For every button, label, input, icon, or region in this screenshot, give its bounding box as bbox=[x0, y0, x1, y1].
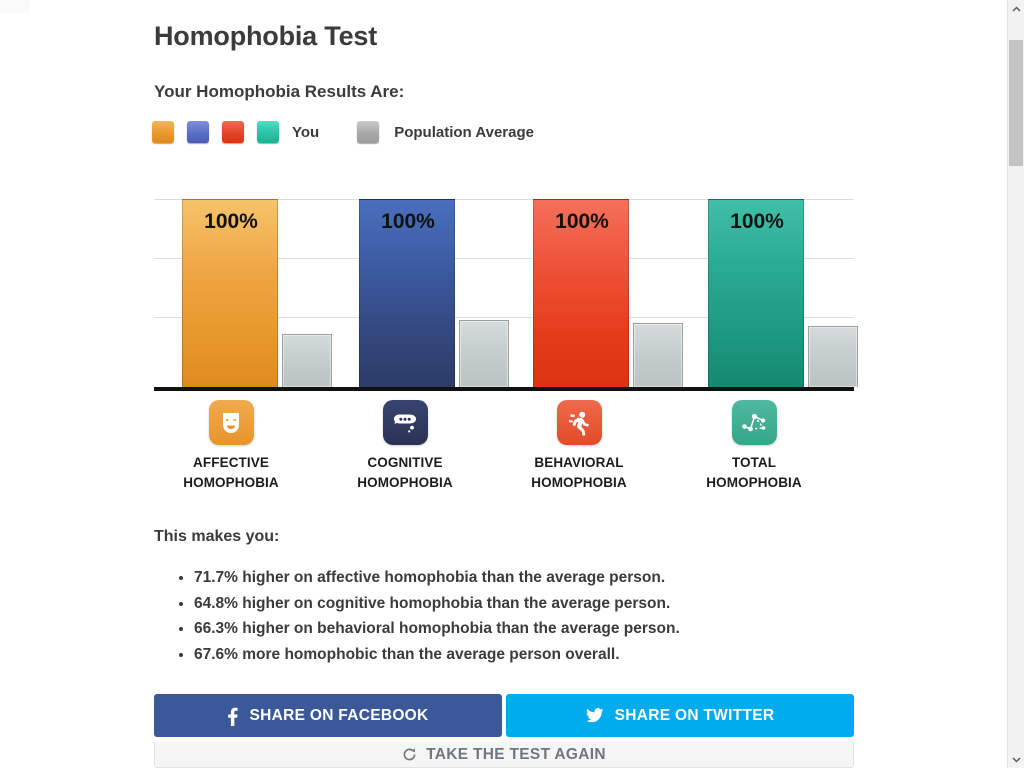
bar-you-affective: 100% bbox=[182, 199, 278, 387]
running-person-icon bbox=[557, 400, 602, 445]
content-column: Homophobia Test Your Homophobia Results … bbox=[154, 0, 854, 102]
scroll-up-arrow-icon[interactable] bbox=[1008, 0, 1024, 17]
makes-you-heading: This makes you: bbox=[154, 528, 279, 546]
share-on-twitter-button[interactable]: SHARE ON TWITTER bbox=[506, 694, 854, 737]
legend-swatch-affective bbox=[152, 121, 174, 143]
bar-average-cognitive bbox=[459, 320, 509, 387]
category-label-total: TOTAL HOMOPHOBIA bbox=[679, 453, 829, 493]
results-bullet-list: 71.7% higher on affective homophobia tha… bbox=[172, 565, 874, 667]
corner-artifact bbox=[0, 0, 30, 13]
legend-swatch-behavioral bbox=[222, 121, 244, 143]
share-on-facebook-button[interactable]: SHARE ON FACEBOOK bbox=[154, 694, 502, 737]
category-label-line2: HOMOPHOBIA bbox=[330, 473, 480, 493]
list-item: 66.3% higher on behavioral homophobia th… bbox=[194, 616, 874, 642]
category-affective: AFFECTIVE HOMOPHOBIA bbox=[156, 400, 306, 493]
bar-value-total: 100% bbox=[709, 210, 805, 234]
page-title: Homophobia Test bbox=[154, 21, 854, 52]
list-item: 71.7% higher on affective homophobia tha… bbox=[194, 565, 874, 591]
twitter-icon bbox=[586, 708, 604, 724]
share-button-row: SHARE ON FACEBOOK SHARE ON TWITTER bbox=[154, 694, 854, 737]
category-total: TOTAL HOMOPHOBIA bbox=[679, 400, 829, 493]
theater-mask-icon bbox=[209, 400, 254, 445]
list-item: 64.8% higher on cognitive homophobia tha… bbox=[194, 591, 874, 617]
category-label-line2: HOMOPHOBIA bbox=[679, 473, 829, 493]
category-behavioral: BEHAVIORAL HOMOPHOBIA bbox=[504, 400, 654, 493]
facebook-icon bbox=[227, 706, 238, 726]
bar-value-behavioral: 100% bbox=[534, 210, 630, 234]
scrollbar-thumb[interactable] bbox=[1009, 40, 1023, 166]
category-label-cognitive: COGNITIVE HOMOPHOBIA bbox=[330, 453, 480, 493]
bar-you-cognitive: 100% bbox=[359, 199, 455, 387]
bar-average-total bbox=[808, 326, 858, 387]
legend-label-population-average: Population Average bbox=[394, 124, 534, 141]
refresh-icon bbox=[402, 747, 417, 762]
category-label-line1: AFFECTIVE bbox=[156, 453, 306, 473]
list-item: 67.6% more homophobic than the average p… bbox=[194, 642, 874, 668]
network-graph-icon bbox=[732, 400, 777, 445]
legend-swatch-population-average bbox=[357, 121, 379, 143]
vertical-scrollbar[interactable] bbox=[1007, 0, 1024, 768]
category-label-line1: BEHAVIORAL bbox=[504, 453, 654, 473]
share-on-twitter-label: SHARE ON TWITTER bbox=[615, 707, 775, 725]
legend-label-you: You bbox=[292, 124, 319, 141]
category-cognitive: COGNITIVE HOMOPHOBIA bbox=[330, 400, 480, 493]
bar-average-behavioral bbox=[633, 323, 683, 387]
category-label-line2: HOMOPHOBIA bbox=[504, 473, 654, 493]
scroll-down-arrow-icon[interactable] bbox=[1008, 751, 1024, 768]
results-bar-chart: 100% 100% 100% 100% bbox=[154, 199, 854, 391]
results-subtitle: Your Homophobia Results Are: bbox=[154, 82, 854, 102]
take-test-again-button[interactable]: TAKE THE TEST AGAIN bbox=[154, 742, 854, 768]
bar-you-behavioral: 100% bbox=[533, 199, 629, 387]
bar-value-cognitive: 100% bbox=[360, 210, 456, 234]
bar-you-total: 100% bbox=[708, 199, 804, 387]
chart-baseline bbox=[154, 387, 854, 391]
chart-legend: You Population Average bbox=[152, 121, 534, 143]
bar-value-affective: 100% bbox=[183, 210, 279, 234]
category-label-line1: COGNITIVE bbox=[330, 453, 480, 473]
thought-bubble-icon bbox=[383, 400, 428, 445]
category-label-affective: AFFECTIVE HOMOPHOBIA bbox=[156, 453, 306, 493]
category-row: AFFECTIVE HOMOPHOBIA COGNITIVE HOMOPHOBI… bbox=[154, 400, 854, 500]
page-root: Homophobia Test Your Homophobia Results … bbox=[0, 0, 1024, 768]
bar-average-affective bbox=[282, 334, 332, 387]
share-on-facebook-label: SHARE ON FACEBOOK bbox=[249, 707, 428, 725]
category-label-behavioral: BEHAVIORAL HOMOPHOBIA bbox=[504, 453, 654, 493]
legend-swatch-total bbox=[257, 121, 279, 143]
take-test-again-label: TAKE THE TEST AGAIN bbox=[426, 746, 606, 764]
category-label-line2: HOMOPHOBIA bbox=[156, 473, 306, 493]
legend-swatch-cognitive bbox=[187, 121, 209, 143]
category-label-line1: TOTAL bbox=[679, 453, 829, 473]
